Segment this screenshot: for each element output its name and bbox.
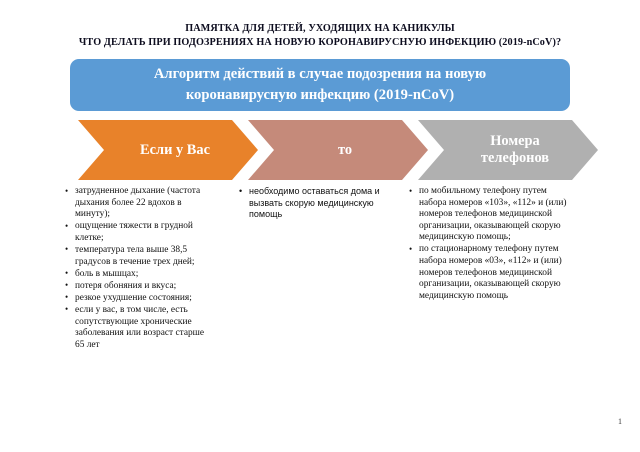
list-item: потеря обоняния и вкуса; bbox=[64, 281, 214, 293]
banner-line-1: Алгоритм действий в случае подозрения на… bbox=[154, 64, 486, 85]
chevron-label-2: то bbox=[324, 142, 352, 159]
list-item: по стационарному телефону путем набора н… bbox=[408, 244, 568, 302]
chevron-row: Если у Вас то Номерателефонов bbox=[0, 120, 640, 180]
column-symptoms: затрудненное дыхание (частота дыхания бо… bbox=[64, 186, 214, 352]
list-item: необходимо оставаться дома и вызвать ско… bbox=[238, 186, 393, 221]
title-line-1: ПАМЯТКА ДЛЯ ДЕТЕЙ, УХОДЯЩИХ НА КАНИКУЛЫ bbox=[0, 22, 640, 36]
phones-list: по мобильному телефону путем набора номе… bbox=[408, 186, 568, 302]
page-title: ПАМЯТКА ДЛЯ ДЕТЕЙ, УХОДЯЩИХ НА КАНИКУЛЫ … bbox=[0, 22, 640, 50]
list-item: если у вас, в том числе, есть сопутствую… bbox=[64, 305, 214, 351]
list-item: резкое ухудшение состояния; bbox=[64, 293, 214, 305]
chevron-phone-numbers: Номерателефонов bbox=[418, 120, 598, 180]
list-item: по мобильному телефону путем набора номе… bbox=[408, 186, 568, 244]
page-number: 1 bbox=[618, 417, 622, 426]
chevron-if-you-have: Если у Вас bbox=[78, 120, 258, 180]
column-phones: по мобильному телефону путем набора номе… bbox=[408, 186, 568, 303]
banner-line-2: коронавирусную инфекцию (2019-nCoV) bbox=[186, 85, 454, 106]
actions-list: необходимо оставаться дома и вызвать ско… bbox=[238, 186, 393, 221]
list-item: затрудненное дыхание (частота дыхания бо… bbox=[64, 186, 214, 221]
chevron-label-3: Номерателефонов bbox=[467, 133, 549, 167]
symptoms-list: затрудненное дыхание (частота дыхания бо… bbox=[64, 186, 214, 351]
list-item: боль в мышцах; bbox=[64, 269, 214, 281]
algorithm-banner: Алгоритм действий в случае подозрения на… bbox=[70, 59, 570, 111]
column-actions: необходимо оставаться дома и вызвать ско… bbox=[238, 186, 393, 221]
title-line-2: ЧТО ДЕЛАТЬ ПРИ ПОДОЗРЕНИЯХ НА НОВУЮ КОРО… bbox=[0, 36, 640, 50]
chevron-then: то bbox=[248, 120, 428, 180]
chevron-label-1: Если у Вас bbox=[126, 142, 210, 159]
list-item: температура тела выше 38,5 градусов в те… bbox=[64, 245, 214, 268]
list-item: ощущение тяжести в грудной клетке; bbox=[64, 221, 214, 244]
